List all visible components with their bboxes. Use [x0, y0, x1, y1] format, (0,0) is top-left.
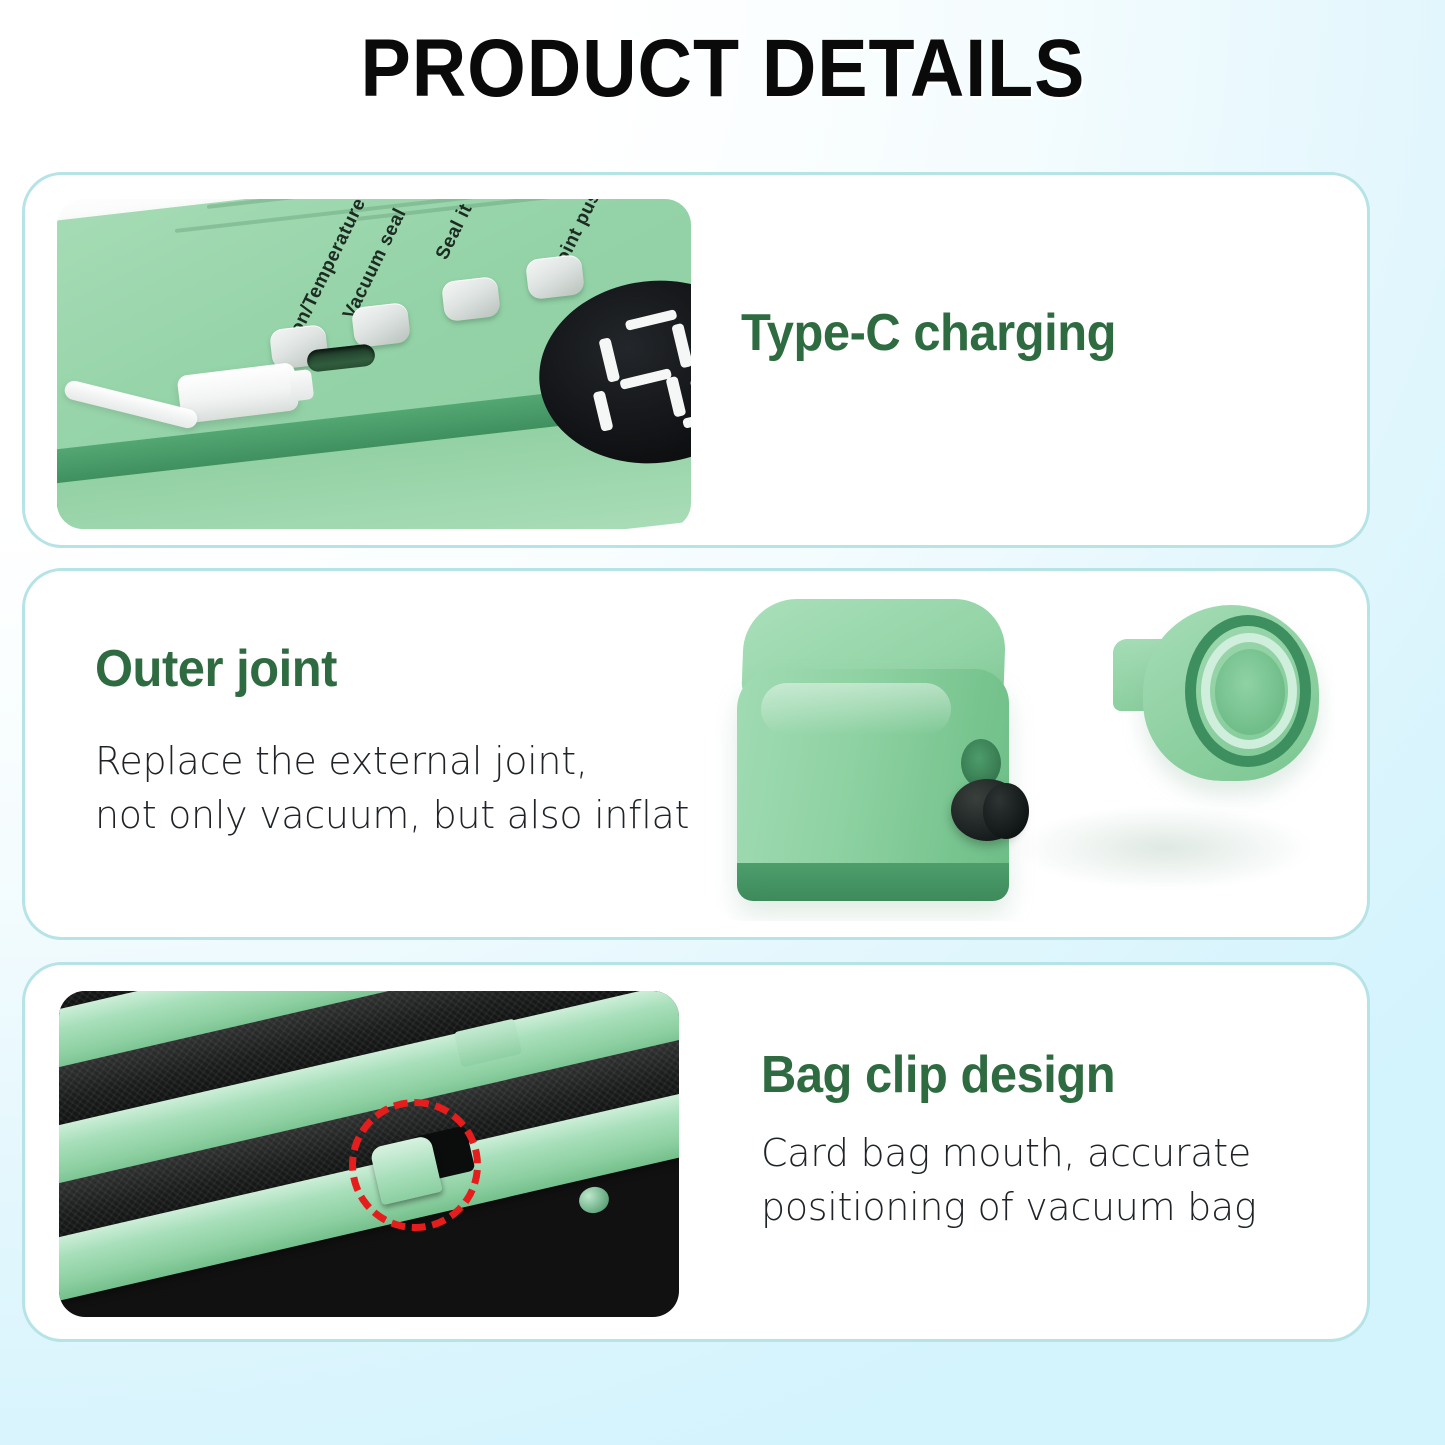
detail-card-type-c-charging: Power on/Temperature Vacuum seal Seal it… — [22, 172, 1370, 548]
card3-body-line-1: Card bag mouth, accurate — [761, 1127, 1256, 1181]
product-photo-outer-joint — [715, 591, 1335, 921]
pump-highlight — [761, 683, 951, 735]
card2-text-block: Outer joint Replace the external joint, … — [95, 639, 689, 843]
pump-base-ring — [737, 863, 1009, 901]
highlight-circle-annotation — [349, 1099, 481, 1231]
detail-card-outer-joint: Outer joint Replace the external joint, … — [22, 568, 1370, 940]
card3-heading: Bag clip design — [761, 1045, 1227, 1105]
device-button-point-push[interactable] — [525, 254, 585, 300]
card1-text-block: Type-C charging — [741, 303, 1140, 363]
device-button-seal[interactable] — [441, 276, 501, 322]
screw-dot — [576, 1184, 611, 1216]
card2-heading: Outer joint — [95, 639, 653, 699]
detail-card-bag-clip-design: Bag clip design Card bag mouth, accurate… — [22, 962, 1370, 1342]
card3-body-line-2: positioning of vacuum bag — [761, 1181, 1256, 1235]
card1-heading: Type-C charging — [741, 303, 1116, 363]
product-photo-type-c-charging: Power on/Temperature Vacuum seal Seal it… — [57, 199, 691, 529]
card2-body-line-1: Replace the external joint, — [95, 735, 689, 789]
page-title: PRODUCT DETAILS — [360, 22, 1085, 116]
card3-text-block: Bag clip design Card bag mouth, accurate… — [761, 1045, 1256, 1235]
product-photo-bag-clip — [59, 991, 679, 1317]
nozzle-cap-inner — [983, 783, 1029, 839]
card2-body-line-2: not only vacuum, but also inflat — [95, 789, 689, 843]
page-title-wrap: PRODUCT DETAILS — [0, 22, 1445, 116]
funnel-mouth — [1215, 649, 1285, 735]
product-details-page: PRODUCT DETAILS Power on/Temperature Vac… — [0, 0, 1445, 1445]
photo-shadow — [1015, 805, 1315, 891]
device-button-vacuum[interactable] — [351, 302, 411, 348]
